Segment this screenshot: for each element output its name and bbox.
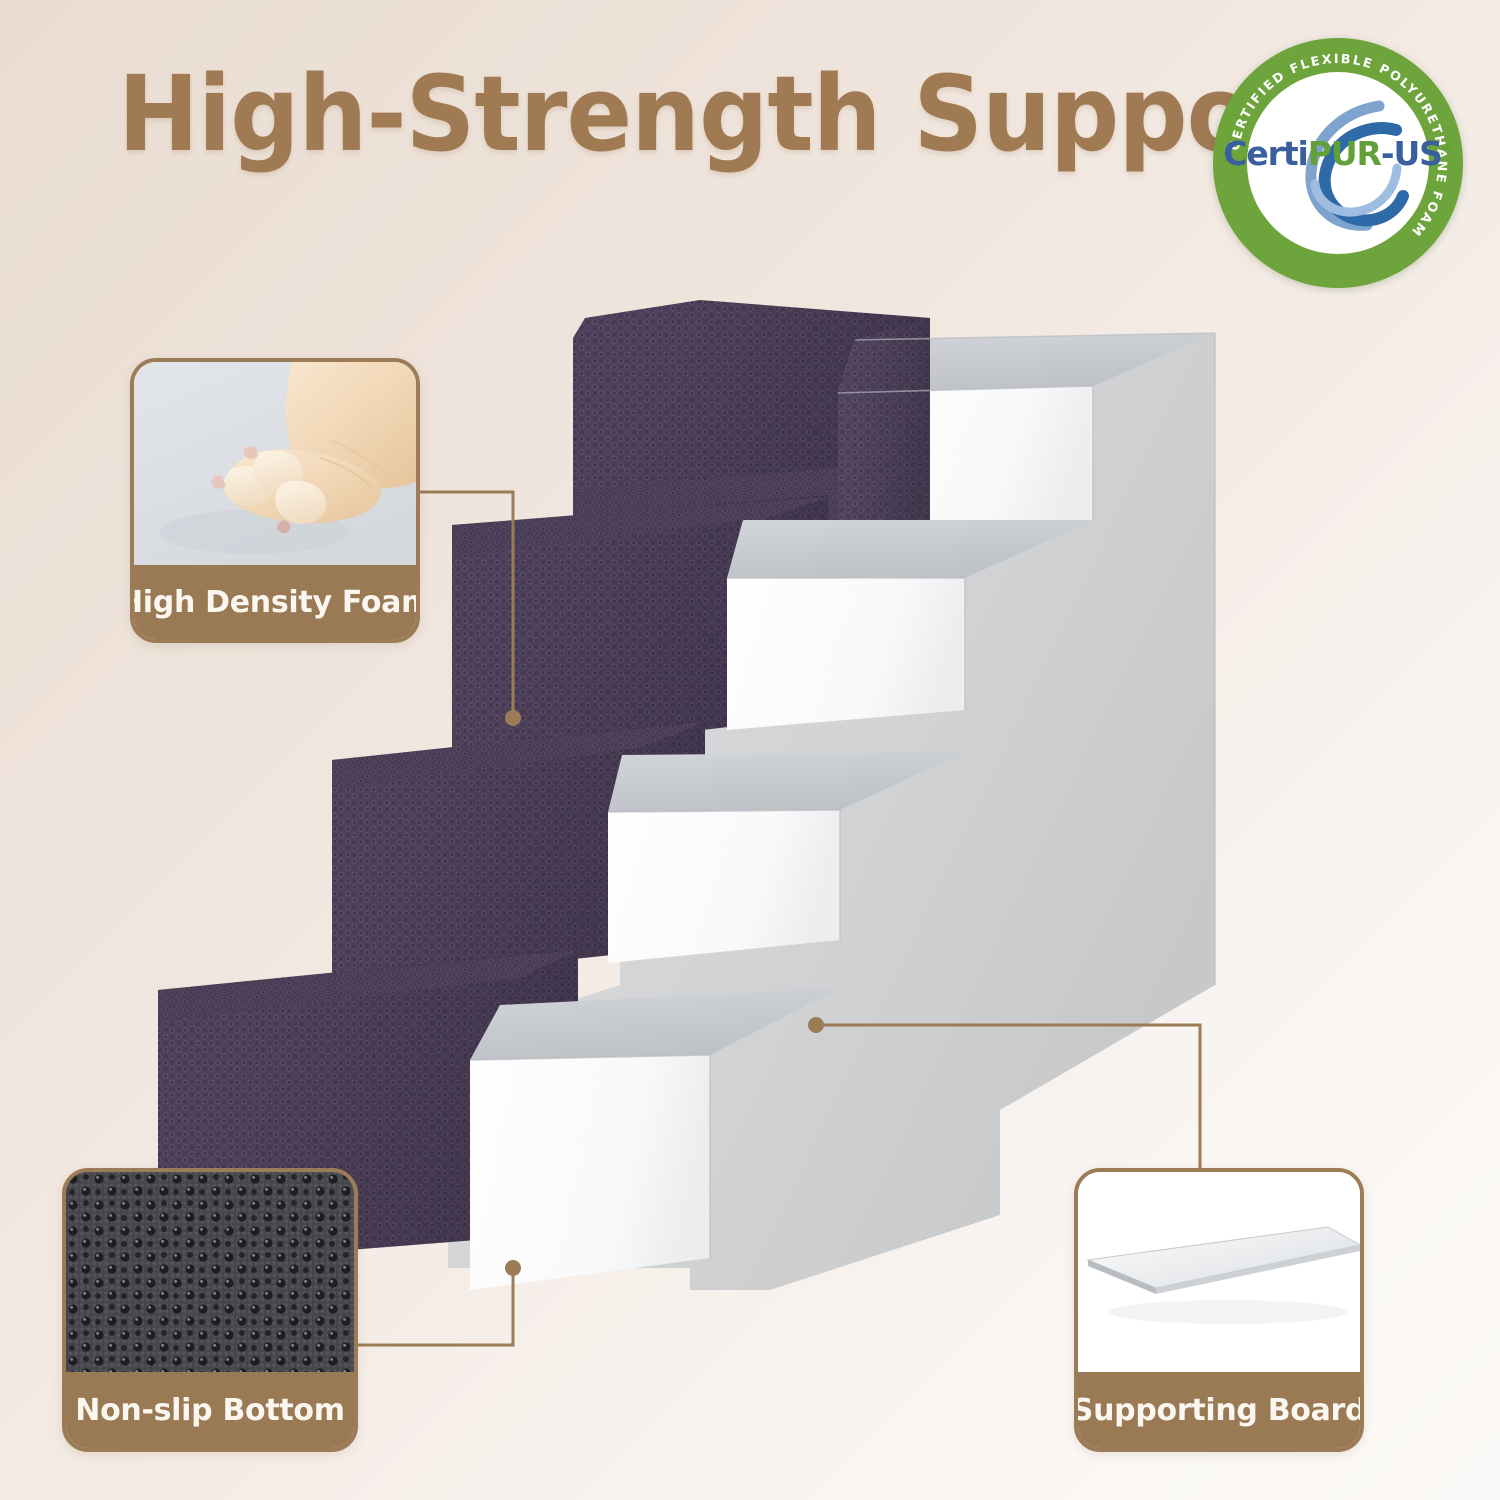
badge-wordmark: CertiPUR-US® (1213, 134, 1463, 173)
dog-paw-photo (134, 362, 416, 565)
badge-wordmark-us: -US (1381, 134, 1442, 173)
supporting-board-photo (1078, 1172, 1360, 1372)
badge-wordmark-certi: Certi (1223, 134, 1307, 173)
nonslip-fabric-swatch (66, 1172, 354, 1372)
certipur-us-badge: CONTAINS CERTIFIED FLEXIBLE POLYURETHANE… (1213, 38, 1463, 288)
callout-card-non-slip-bottom[interactable]: Non-slip Bottom (62, 1168, 358, 1452)
callout-label-supporting-board: Supporting Board (1078, 1372, 1360, 1448)
callout-card-high-density-foam[interactable]: High Density Foam (130, 358, 420, 643)
badge-wordmark-pur: PUR (1308, 134, 1381, 173)
callout-label-non-slip-bottom: Non-slip Bottom (66, 1372, 354, 1448)
callout-card-supporting-board[interactable]: Supporting Board (1074, 1168, 1364, 1452)
infographic-canvas: High-Strength Support (0, 0, 1500, 1500)
callout-label-high-density-foam: High Density Foam (134, 565, 416, 639)
badge-registered-mark: ® (1442, 142, 1453, 156)
